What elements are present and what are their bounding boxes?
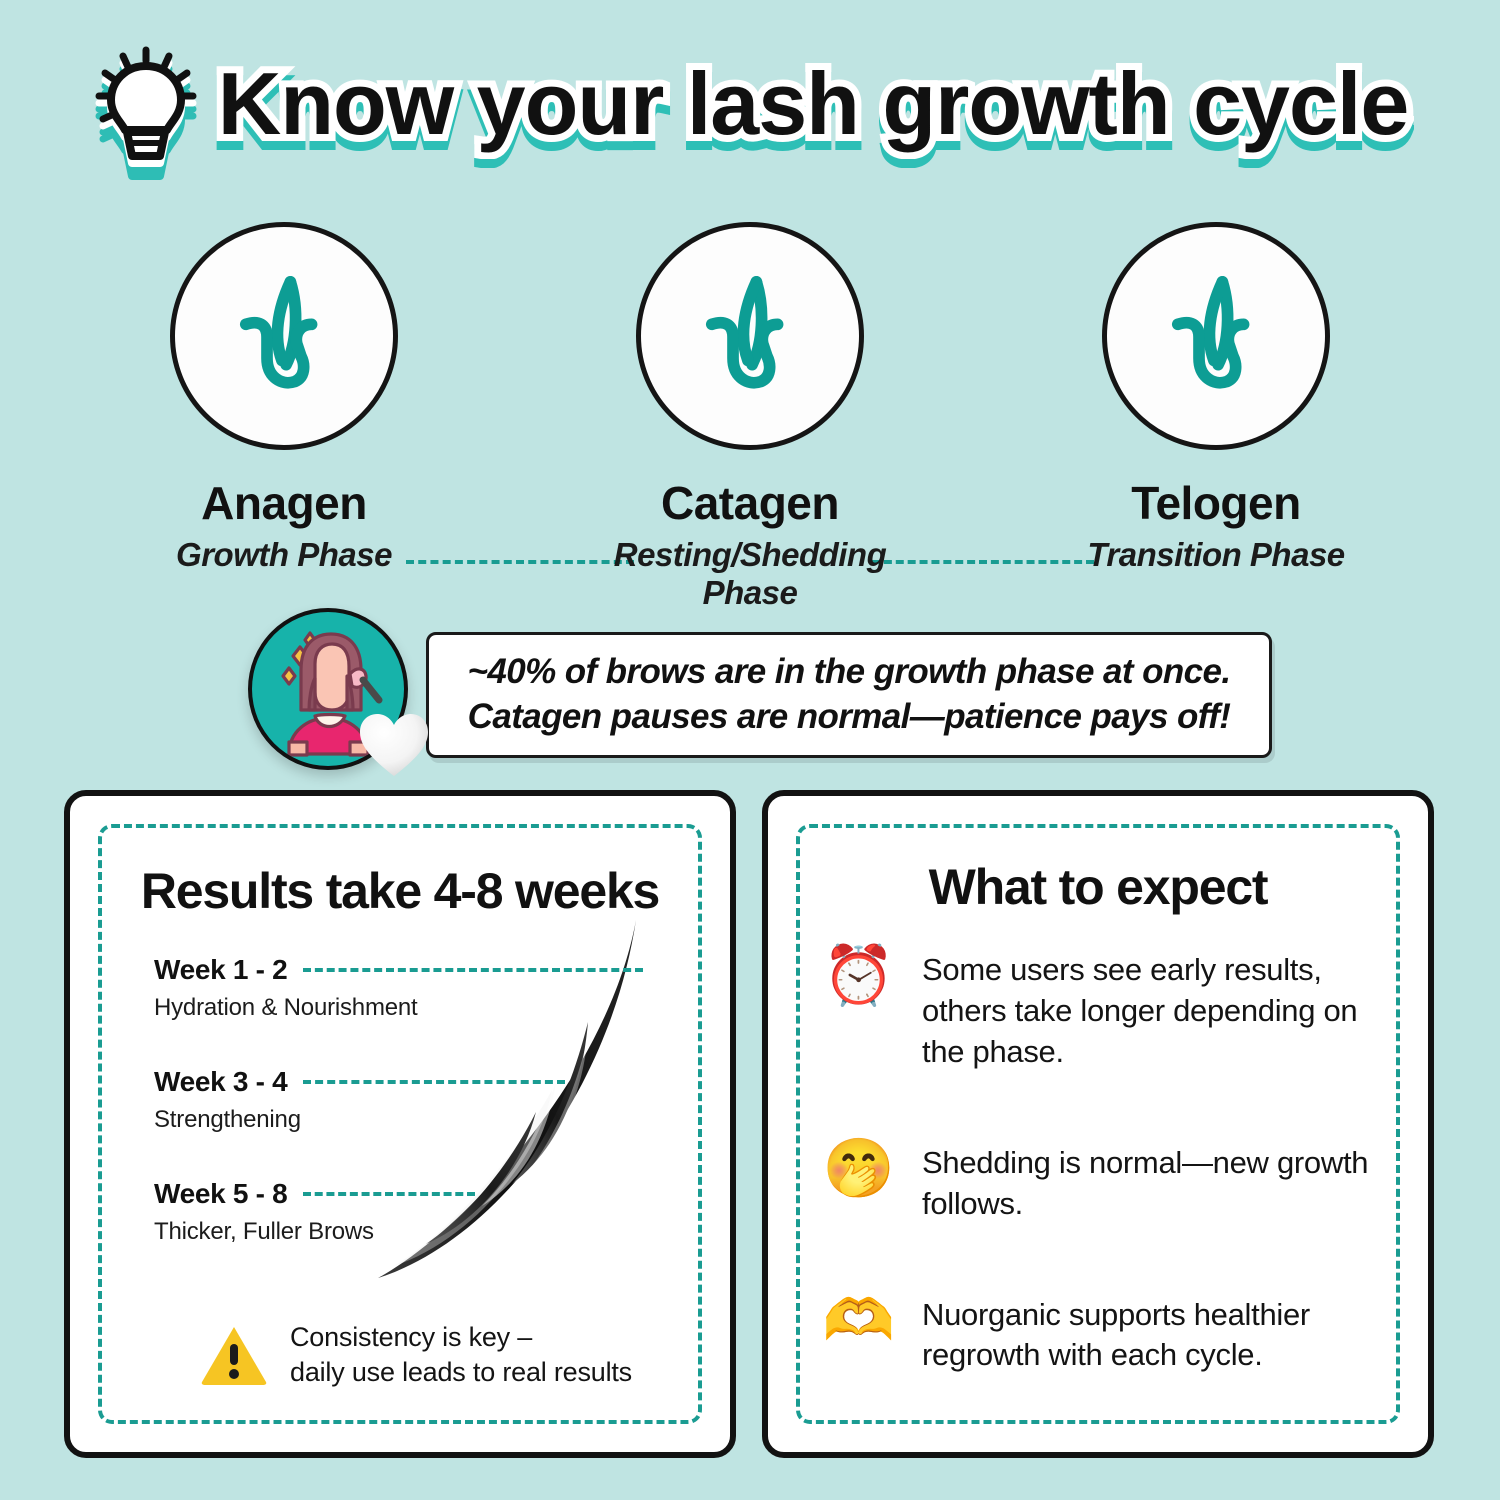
consistency-line-1: Consistency is key – — [290, 1322, 532, 1352]
infographic-root: Know your lash growth cycle Anagen Growt… — [0, 0, 1500, 1500]
white-heart-icon — [358, 712, 430, 780]
page-title: Know your lash growth cycle — [218, 60, 1409, 148]
timeline-week: Week 3 - 4 — [154, 1066, 287, 1098]
phase-telogen[interactable]: Telogen Transition Phase — [1066, 222, 1366, 574]
phase-row: Anagen Growth Phase Catagen Resting/Shed… — [0, 222, 1500, 582]
lightbulb-icon — [92, 46, 200, 162]
heart-hands-icon: 🫶 — [822, 1291, 896, 1349]
warning-triangle-icon — [200, 1324, 268, 1386]
expect-card-title: What to expect — [768, 858, 1428, 916]
phase-name: Telogen — [1066, 476, 1366, 530]
results-card: Results take 4-8 weeks — [64, 790, 736, 1458]
phase-connector-2 — [872, 560, 1094, 564]
stat-line-2: Catagen pauses are normal—patience pays … — [468, 695, 1231, 740]
list-item: 🫶 Nuorganic supports healthier regrowth … — [822, 1291, 1382, 1377]
phase-catagen[interactable]: Catagen Resting/Shedding Phase — [600, 222, 900, 612]
phase-circle — [636, 222, 864, 450]
expect-card: What to expect ⏰ Some users see early re… — [762, 790, 1434, 1458]
phase-subtitle: Transition Phase — [1066, 536, 1366, 574]
phase-circle — [1102, 222, 1330, 450]
timeline-desc: Thicker, Fuller Brows — [154, 1218, 694, 1246]
list-item: 🤭 Shedding is normal—new growth follows. — [822, 1139, 1382, 1225]
phase-anagen[interactable]: Anagen Growth Phase — [134, 222, 434, 574]
hair-follicle-icon — [220, 267, 348, 405]
phase-subtitle: Resting/Shedding Phase — [600, 536, 900, 612]
phase-subtitle: Growth Phase — [134, 536, 434, 574]
timeline-week: Week 1 - 2 — [154, 954, 287, 986]
timeline-dash — [303, 1192, 475, 1196]
timeline-dash — [303, 1080, 565, 1084]
list-item: ⏰ Some users see early results, others t… — [822, 946, 1382, 1073]
stat-callout: ~40% of brows are in the growth phase at… — [248, 608, 1266, 776]
results-card-title: Results take 4-8 weeks — [70, 862, 730, 920]
phase-name: Catagen — [600, 476, 900, 530]
timeline-row: Week 1 - 2 Hydration & Nourishment — [154, 954, 694, 1022]
page-title-bar: Know your lash growth cycle — [0, 46, 1500, 162]
consistency-text: Consistency is key – daily use leads to … — [290, 1320, 632, 1390]
hair-follicle-icon — [686, 267, 814, 405]
list-item-text: Nuorganic supports healthier regrowth wi… — [922, 1291, 1382, 1377]
phase-circle — [170, 222, 398, 450]
phase-name: Anagen — [134, 476, 434, 530]
consistency-note: Consistency is key – daily use leads to … — [200, 1320, 632, 1390]
expect-list: ⏰ Some users see early results, others t… — [822, 946, 1382, 1442]
list-item-text: Some users see early results, others tak… — [922, 946, 1382, 1073]
timeline-dash — [303, 968, 643, 972]
stat-line-1: ~40% of brows are in the growth phase at… — [468, 650, 1231, 695]
timeline-desc: Strengthening — [154, 1106, 694, 1134]
face-with-hand-over-mouth-icon: 🤭 — [822, 1139, 896, 1197]
timeline-week: Week 5 - 8 — [154, 1178, 287, 1210]
results-timeline: Week 1 - 2 Hydration & Nourishment Week … — [154, 954, 694, 1290]
timeline-desc: Hydration & Nourishment — [154, 994, 694, 1022]
timeline-row: Week 3 - 4 Strengthening — [154, 1066, 694, 1134]
timeline-row: Week 5 - 8 Thicker, Fuller Brows — [154, 1178, 694, 1246]
hair-follicle-icon — [1152, 267, 1280, 405]
alarm-clock-icon: ⏰ — [822, 946, 896, 1004]
list-item-text: Shedding is normal—new growth follows. — [922, 1139, 1382, 1225]
consistency-line-2: daily use leads to real results — [290, 1357, 632, 1387]
stat-bubble: ~40% of brows are in the growth phase at… — [426, 632, 1272, 758]
